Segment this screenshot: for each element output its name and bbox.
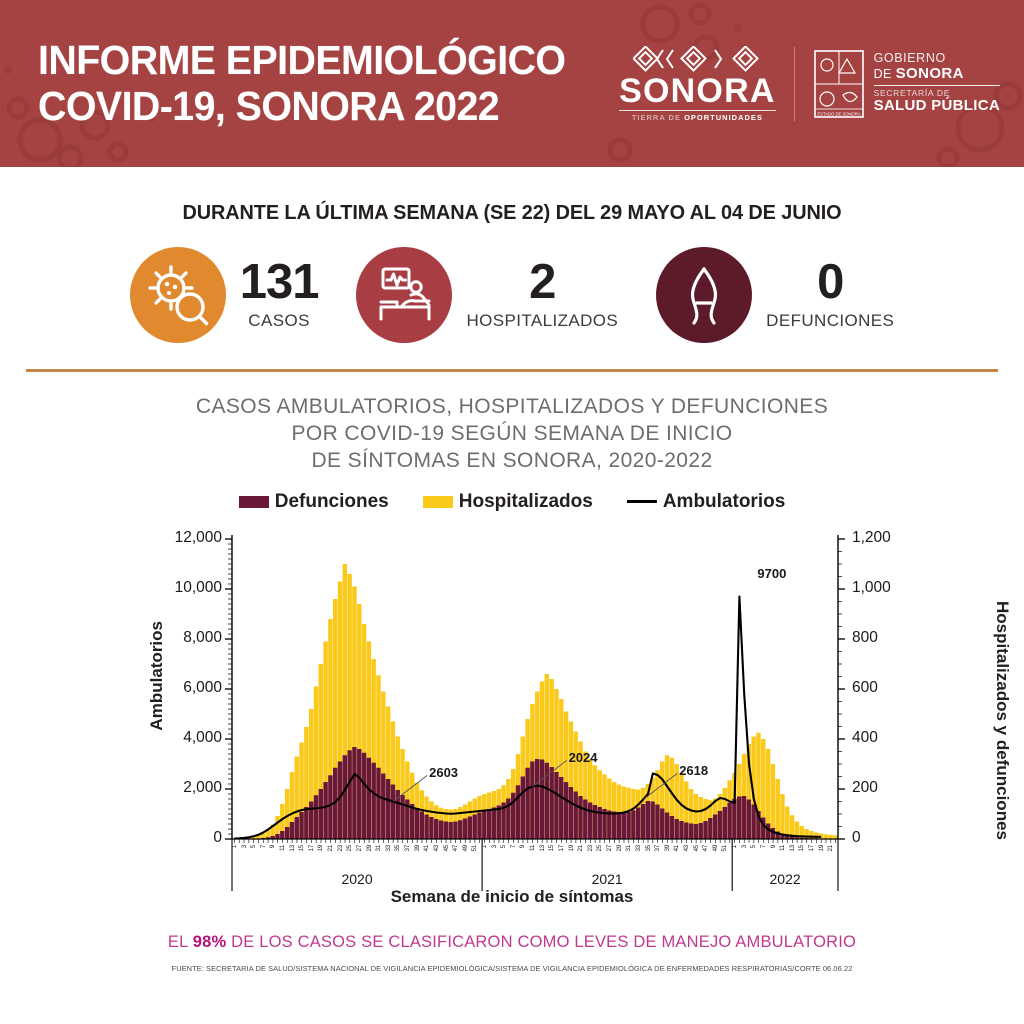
x-tick-week: 3 [241, 845, 248, 848]
chart-annotation: 2603 [429, 765, 458, 780]
casos-value: 131 [240, 259, 319, 306]
x-tick-week: 33 [385, 845, 392, 852]
bar-defunciones [742, 796, 746, 839]
bar-defunciones [371, 762, 375, 838]
chart-legend: Defunciones Hospitalizados Ambulatorios [0, 491, 1024, 513]
bar-defunciones [477, 812, 481, 839]
hospital-bed-icon [371, 265, 437, 325]
x-tick-week: 11 [279, 845, 286, 851]
x-tick-week: 25 [346, 845, 353, 852]
x-tick-week: 29 [366, 845, 373, 852]
y-tick-left: 2,000 [80, 779, 222, 797]
chart-title: CASOS AMBULATORIOS, HOSPITALIZADOS Y DEF… [0, 394, 1024, 475]
x-tick-week: 7 [510, 845, 517, 848]
bar-defunciones [521, 776, 525, 839]
footer-highlight-suffix: DE LOS CASOS SE CLASIFICARON COMO LEVES … [226, 933, 856, 951]
sonora-logo: SONORA TIERRA DE OPORTUNIDADES [619, 46, 775, 122]
x-tick-week: 49 [712, 845, 719, 852]
bar-defunciones [391, 784, 395, 839]
bar-hospitalizados [771, 764, 775, 839]
legend-label-defunciones: Defunciones [275, 491, 389, 513]
bar-defunciones [747, 799, 751, 839]
bar-defunciones [559, 777, 563, 839]
bar-defunciones [650, 801, 654, 839]
bar-defunciones [732, 799, 736, 839]
x-tick-week: 13 [789, 845, 796, 852]
bar-defunciones [751, 804, 755, 839]
bar-defunciones [670, 816, 674, 839]
bar-defunciones [660, 808, 664, 839]
bar-defunciones [564, 782, 568, 839]
x-tick-week: 45 [443, 845, 450, 852]
gobierno-label: GOBIERNO [874, 52, 1000, 66]
logo-divider [794, 47, 795, 121]
x-tick-week: 3 [741, 845, 748, 848]
bar-defunciones [607, 810, 611, 839]
bar-defunciones [323, 782, 327, 839]
x-tick-week: 25 [596, 845, 603, 852]
x-tick-week: 37 [654, 845, 661, 852]
bar-defunciones [636, 807, 640, 839]
bar-defunciones [554, 772, 558, 839]
defunciones-value: 0 [817, 259, 843, 306]
bar-defunciones [410, 804, 414, 839]
bar-defunciones [540, 759, 544, 839]
chart-annotation: 9700 [757, 566, 786, 581]
bar-defunciones [679, 821, 683, 839]
x-tick-week: 45 [693, 845, 700, 852]
bar-defunciones [319, 789, 323, 839]
x-tick-week: 3 [491, 845, 498, 848]
bar-defunciones [612, 811, 616, 839]
stat-hospitalizados: 2 HOSPITALIZADOS [356, 247, 618, 343]
bar-defunciones [328, 775, 332, 839]
y-tick-right: 0 [852, 829, 861, 847]
section-divider [26, 369, 998, 372]
x-tick-week: 33 [635, 845, 642, 852]
bar-defunciones [684, 822, 688, 839]
svg-text:ESTADO DE SONORA: ESTADO DE SONORA [817, 111, 860, 116]
secretaria-label: SECRETARÍA DE [874, 89, 1000, 98]
x-axis-year-group: 2021 [482, 871, 732, 887]
bar-defunciones [516, 785, 520, 839]
y-tick-right: 1,000 [852, 579, 891, 597]
bar-defunciones [646, 801, 650, 839]
state-coat-of-arms-icon: ESTADO DE SONORA [813, 49, 865, 119]
chart-annotation: 2024 [569, 750, 598, 765]
casos-label: CASOS [248, 311, 310, 331]
bar-defunciones [367, 757, 371, 838]
hospitalizados-value: 2 [529, 259, 555, 306]
header-logos: SONORA TIERRA DE OPORTUNIDADES [619, 0, 1000, 167]
gobierno-de: DE [874, 67, 892, 81]
bar-defunciones [309, 801, 313, 839]
bar-defunciones [295, 817, 299, 839]
bar-defunciones [694, 824, 698, 839]
bar-defunciones [420, 811, 424, 839]
gobierno-sonora: SONORA [896, 65, 964, 82]
bar-defunciones [699, 823, 703, 839]
bar-defunciones [713, 814, 717, 839]
x-tick-week: 19 [568, 845, 575, 852]
legend-swatch-defunciones [239, 496, 269, 508]
x-tick-week: 7 [760, 845, 767, 848]
x-tick-week: 31 [375, 845, 382, 852]
y-tick-right: 200 [852, 779, 878, 797]
hospitalizados-bubble [356, 247, 452, 343]
legend-label-ambulatorios: Ambulatorios [663, 491, 785, 513]
bar-defunciones [429, 817, 433, 839]
x-tick-week: 47 [452, 845, 459, 852]
x-tick-week: 9 [269, 845, 276, 848]
bar-defunciones [468, 816, 472, 839]
bar-defunciones [352, 747, 356, 839]
bar-defunciones [708, 818, 712, 839]
x-tick-week: 27 [356, 845, 363, 852]
bar-defunciones [689, 823, 693, 839]
bar-hospitalizados [775, 779, 779, 839]
x-tick-week: 17 [558, 845, 565, 852]
bar-hospitalizados [824, 834, 828, 839]
bar-hospitalizados [780, 794, 784, 839]
bar-defunciones [535, 759, 539, 839]
bar-defunciones [723, 807, 727, 839]
bar-defunciones [622, 812, 626, 839]
x-axis-year-group: 2020 [232, 871, 482, 887]
bar-defunciones [275, 834, 279, 839]
y-tick-right: 400 [852, 729, 878, 747]
bar-defunciones [530, 761, 534, 839]
y-tick-left: 6,000 [80, 679, 222, 697]
bar-defunciones [631, 810, 635, 839]
bar-defunciones [314, 795, 318, 839]
bar-defunciones [453, 821, 457, 839]
bar-defunciones [381, 773, 385, 839]
stats-row: 131 CASOS [0, 247, 1024, 343]
bar-defunciones [626, 812, 630, 839]
sonora-wordmark: SONORA [619, 74, 775, 108]
sonora-tagline-dim: TIERRA DE [632, 113, 681, 122]
y-tick-left: 0 [80, 829, 222, 847]
bar-defunciones [343, 755, 347, 839]
sonora-diamond-icon [633, 46, 761, 72]
x-tick-week: 19 [317, 845, 324, 852]
x-axis-title: Semana de inicio de síntomas [0, 887, 1024, 907]
bar-defunciones [674, 819, 678, 839]
bar-defunciones [578, 796, 582, 839]
bar-defunciones [448, 822, 452, 839]
legend-swatch-hospitalizados [423, 496, 453, 508]
casos-text: 131 CASOS [240, 259, 319, 331]
x-tick-week: 17 [308, 845, 315, 852]
bar-defunciones [439, 820, 443, 839]
x-tick-week: 5 [750, 845, 757, 848]
bar-defunciones [424, 814, 428, 839]
bar-hospitalizados [809, 831, 813, 839]
bar-defunciones [588, 802, 592, 839]
bar-defunciones [304, 807, 308, 839]
y-tick-left: 12,000 [80, 529, 222, 547]
defunciones-text: 0 DEFUNCIONES [766, 259, 894, 331]
x-axis-year-group: 2022 [732, 871, 838, 887]
bar-defunciones [444, 821, 448, 839]
x-tick-week: 51 [471, 845, 478, 852]
x-tick-week: 47 [702, 845, 709, 852]
infographic-page: INFORME EPIDEMIOLÓGICO COVID-19, SONORA … [0, 0, 1024, 1024]
bar-defunciones [549, 767, 553, 839]
bar-defunciones [472, 814, 476, 839]
legend-swatch-ambulatorios [627, 500, 657, 503]
bar-defunciones [593, 805, 597, 839]
x-tick-week: 27 [606, 845, 613, 852]
gobierno-state-label: DE SONORA [874, 66, 1000, 82]
x-tick-week: 13 [289, 845, 296, 852]
bar-defunciones [376, 767, 380, 838]
bar-defunciones [569, 787, 573, 839]
x-tick-week: 51 [721, 845, 728, 852]
x-tick-week: 21 [577, 845, 584, 852]
footer-source: FUENTE: SECRETARIA DE SALUD/SISTEMA NACI… [0, 964, 1024, 973]
bar-defunciones [458, 820, 462, 839]
footer-highlight-prefix: EL [168, 933, 193, 951]
x-tick-week: 23 [337, 845, 344, 852]
bar-defunciones [718, 811, 722, 839]
stat-defunciones: 0 DEFUNCIONES [656, 247, 894, 343]
bar-defunciones [737, 796, 741, 839]
defunciones-label: DEFUNCIONES [766, 311, 894, 331]
awareness-ribbon-icon [678, 263, 730, 327]
legend-item-defunciones[interactable]: Defunciones [239, 491, 389, 513]
y-tick-left: 10,000 [80, 579, 222, 597]
footer-highlight: EL 98% DE LOS CASOS SE CLASIFICARON COMO… [0, 933, 1024, 952]
bar-defunciones [487, 809, 491, 839]
x-tick-week: 39 [414, 845, 421, 852]
x-tick-week: 17 [808, 845, 815, 852]
legend-label-hospitalizados: Hospitalizados [459, 491, 593, 513]
x-tick-week: 23 [587, 845, 594, 852]
bar-defunciones [727, 802, 731, 838]
casos-bubble [130, 247, 226, 343]
bar-defunciones [655, 804, 659, 839]
x-tick-week: 15 [548, 845, 555, 852]
salud-publica-label: SALUD PÚBLICA [874, 98, 1000, 114]
bar-defunciones [641, 804, 645, 839]
bar-defunciones [434, 819, 438, 839]
y-tick-right: 800 [852, 629, 878, 647]
bar-defunciones [573, 791, 577, 839]
defunciones-bubble [656, 247, 752, 343]
bar-defunciones [583, 799, 587, 839]
bar-defunciones [290, 822, 294, 839]
x-tick-week: 5 [250, 845, 257, 848]
x-tick-week: 15 [798, 845, 805, 852]
bar-defunciones [400, 795, 404, 839]
x-tick-week: 29 [616, 845, 623, 852]
x-tick-week: 7 [260, 845, 267, 848]
y-tick-right: 1,200 [852, 529, 891, 547]
bar-defunciones [482, 810, 486, 839]
bar-defunciones [492, 807, 496, 839]
chart-annotation: 2618 [679, 763, 708, 778]
x-tick-week: 35 [394, 845, 401, 852]
bar-hospitalizados [828, 834, 832, 838]
x-tick-week: 19 [818, 845, 825, 852]
x-tick-week: 15 [298, 845, 305, 852]
stat-casos: 131 CASOS [130, 247, 319, 343]
bar-defunciones [285, 827, 289, 839]
x-tick-week: 13 [539, 845, 546, 852]
x-tick-week: 43 [433, 845, 440, 852]
bar-defunciones [497, 805, 501, 839]
x-tick-week: 41 [423, 845, 430, 852]
sonora-tagline: TIERRA DE OPORTUNIDADES [619, 110, 775, 122]
bar-defunciones [415, 808, 419, 839]
x-tick-week: 43 [683, 845, 690, 852]
x-tick-week: 9 [519, 845, 526, 848]
bar-defunciones [665, 812, 669, 839]
y-tick-left: 8,000 [80, 629, 222, 647]
virus-magnifier-icon [146, 263, 210, 327]
bar-defunciones [357, 749, 361, 839]
x-tick-week: 41 [673, 845, 680, 852]
x-tick-week: 31 [625, 845, 632, 852]
bar-defunciones [617, 812, 621, 839]
gobierno-rule [874, 85, 1000, 86]
legend-item-hospitalizados[interactable]: Hospitalizados [423, 491, 593, 513]
page-title: INFORME EPIDEMIOLÓGICO COVID-19, SONORA … [38, 38, 565, 128]
chart-plot-area: Ambulatorios Hospitalizados y defuncione… [0, 521, 1024, 921]
bar-defunciones [362, 752, 366, 838]
x-tick-week: 1 [731, 845, 738, 848]
x-tick-week: 37 [404, 845, 411, 852]
y-tick-right: 600 [852, 679, 878, 697]
x-tick-week: 1 [231, 845, 238, 848]
x-tick-week: 11 [779, 845, 786, 851]
x-tick-week: 11 [529, 845, 536, 851]
y-tick-left: 4,000 [80, 729, 222, 747]
x-tick-week: 5 [500, 845, 507, 848]
x-tick-week: 21 [827, 845, 834, 852]
bar-defunciones [386, 779, 390, 839]
sonora-tagline-main: OPORTUNIDADES [684, 113, 763, 122]
x-tick-week: 21 [327, 845, 334, 852]
bar-defunciones [299, 812, 303, 839]
x-tick-week: 49 [462, 845, 469, 852]
x-tick-week: 9 [770, 845, 777, 848]
hospitalizados-label: HOSPITALIZADOS [466, 311, 618, 331]
page-header: INFORME EPIDEMIOLÓGICO COVID-19, SONORA … [0, 0, 1024, 167]
legend-item-ambulatorios[interactable]: Ambulatorios [627, 491, 785, 513]
bar-defunciones [347, 750, 351, 839]
x-tick-week: 39 [664, 845, 671, 852]
x-tick-week: 35 [645, 845, 652, 852]
gobierno-sonora-logo: ESTADO DE SONORA GOBIERNO DE SONORA SECR… [813, 49, 1000, 119]
week-summary-heading: DURANTE LA ÚLTIMA SEMANA (SE 22) DEL 29 … [15, 201, 1008, 225]
x-tick-week: 1 [481, 845, 488, 848]
y-axis-right-title: Hospitalizados y defunciones [992, 601, 1012, 840]
bar-defunciones [280, 831, 284, 839]
bar-defunciones [463, 818, 467, 839]
footer-highlight-value: 98% [193, 933, 227, 951]
bar-defunciones [525, 767, 529, 838]
bar-defunciones [703, 821, 707, 839]
hospitalizados-text: 2 HOSPITALIZADOS [466, 259, 618, 331]
